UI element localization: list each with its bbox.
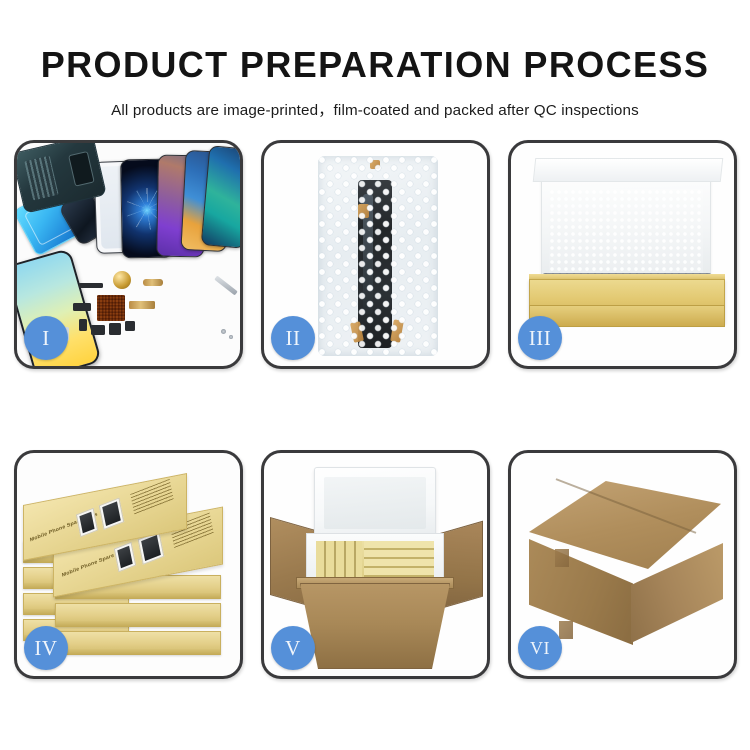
stack-box-r2: [55, 603, 221, 627]
logic-board: [97, 295, 125, 321]
step-panel-bubble-wrapped-part[interactable]: II: [261, 140, 490, 369]
header: PRODUCT PREPARATION PROCESS All products…: [0, 0, 750, 120]
flex-cable-1: [143, 279, 163, 286]
bar-part: [79, 283, 103, 288]
small-chip-3: [91, 325, 105, 335]
foam-sheet: [549, 189, 703, 275]
carton-body: [300, 583, 450, 669]
flex-cable-2: [129, 301, 155, 309]
label-swatch-2a: [114, 542, 136, 572]
carton-tape-bottom: [559, 621, 573, 639]
page-subtitle: All products are image-printed，film-coat…: [0, 83, 750, 120]
step-panel-open-inner-box[interactable]: III: [508, 140, 737, 369]
step-panel-stacked-inner-boxes[interactable]: Mobile Phone Spare Parts Mobile Phone Sp…: [14, 450, 243, 679]
small-chip-1: [73, 303, 91, 311]
yellow-box-front: [529, 305, 725, 327]
step-panel-products-overview[interactable]: I: [14, 140, 243, 369]
carton-tape-top: [555, 549, 569, 567]
stack-box-r3: [55, 631, 221, 655]
label-swatch-1b: [99, 497, 125, 530]
step-badge-6: VI: [518, 626, 562, 670]
step-panel-sealed-carton[interactable]: VI: [508, 450, 737, 679]
step-badge-3: III: [518, 316, 562, 360]
bubble-texture: [318, 156, 438, 356]
foam-box-lid: [314, 467, 436, 539]
label-lines-1: [130, 479, 173, 515]
screwdriver-tool: [214, 276, 238, 296]
screw-2: [229, 335, 233, 339]
step-badge-1: I: [24, 316, 68, 360]
step-panel-foam-carton-packing[interactable]: V: [261, 450, 490, 679]
camera-module: [109, 323, 121, 335]
gold-coil-part: [113, 271, 131, 289]
page-title: PRODUCT PREPARATION PROCESS: [0, 0, 750, 83]
step-badge-4: IV: [24, 626, 68, 670]
screw-1: [221, 329, 226, 334]
process-steps-grid: I II: [14, 140, 736, 680]
step-badge-2: II: [271, 316, 315, 360]
step-badge-5: V: [271, 626, 315, 670]
small-chip-4: [125, 321, 135, 331]
small-chip-2: [79, 319, 87, 331]
bubble-wrap-bag: [318, 156, 438, 356]
product-preparation-infographic: PRODUCT PREPARATION PROCESS All products…: [0, 0, 750, 750]
